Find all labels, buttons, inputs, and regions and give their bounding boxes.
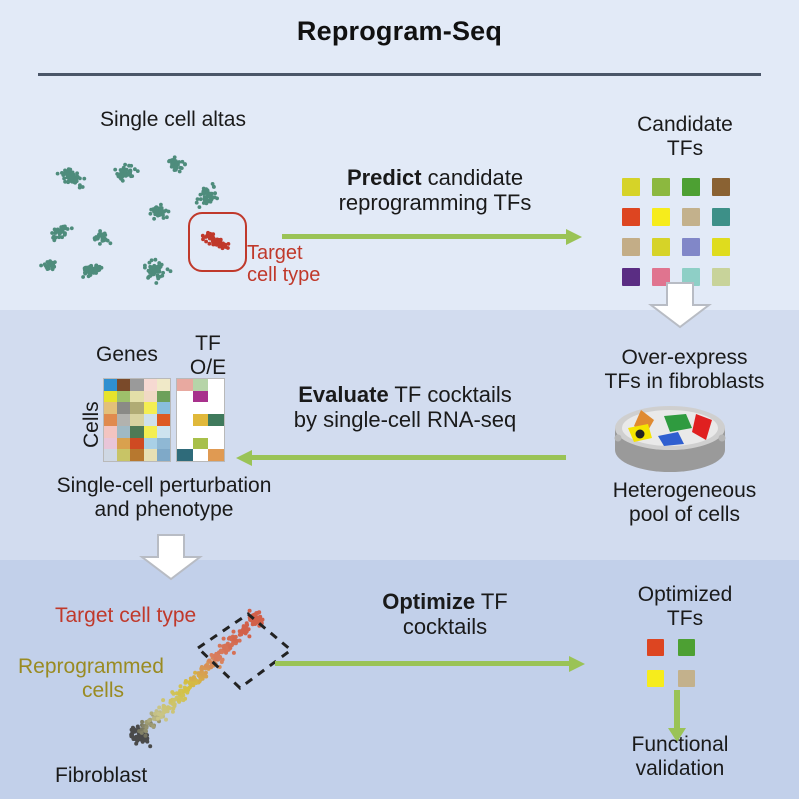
scatter-point bbox=[118, 174, 122, 178]
scatter-point bbox=[145, 726, 149, 730]
scatter-point bbox=[156, 267, 160, 271]
scatter-point bbox=[51, 263, 55, 267]
scatter-point bbox=[177, 691, 181, 695]
scatter-point bbox=[147, 719, 151, 723]
scatter-point bbox=[162, 704, 166, 708]
heatmap-cell bbox=[144, 379, 157, 391]
scatter-point bbox=[155, 211, 159, 215]
heatmap-cell bbox=[193, 449, 209, 461]
arrow-head-right-icon bbox=[569, 656, 585, 672]
tf-oe-label: TF O/E bbox=[178, 332, 238, 379]
scatter-point bbox=[81, 185, 85, 189]
target-cell-type-label: Target cell type bbox=[247, 242, 320, 287]
scatter-point bbox=[101, 236, 105, 240]
tf-swatch bbox=[682, 208, 700, 226]
scatter-point bbox=[166, 267, 170, 271]
scatter-point bbox=[130, 174, 134, 178]
scatter-point bbox=[213, 191, 217, 195]
scatter-point bbox=[202, 201, 206, 205]
heatmap-cell bbox=[117, 449, 130, 461]
scatter-point bbox=[183, 697, 187, 701]
heatmap-cell bbox=[177, 449, 193, 461]
scatter-point bbox=[156, 273, 160, 277]
heatmap-cell bbox=[157, 449, 170, 461]
tf-swatch bbox=[712, 178, 730, 196]
tf-swatch bbox=[622, 178, 640, 196]
atlas-label: Single cell altas bbox=[48, 108, 298, 132]
scatter-point bbox=[211, 195, 215, 199]
heatmap-cell bbox=[117, 426, 130, 438]
scatter-point bbox=[153, 712, 157, 716]
scatter-point bbox=[164, 209, 168, 213]
heatmap-cell bbox=[104, 426, 117, 438]
tf-swatch bbox=[682, 238, 700, 256]
heatmap-cell bbox=[177, 426, 193, 438]
scatter-point bbox=[174, 159, 178, 163]
scatter-point bbox=[157, 706, 161, 710]
scatter-point bbox=[156, 717, 160, 721]
scatter-point bbox=[195, 201, 199, 205]
scatter-point bbox=[147, 269, 151, 273]
scatter-point bbox=[100, 266, 104, 270]
heatmap-cell bbox=[130, 379, 143, 391]
scatter-point bbox=[211, 182, 215, 186]
heatmap-cell bbox=[130, 414, 143, 426]
scatter-point bbox=[130, 731, 134, 735]
heatmap-cell bbox=[104, 402, 117, 414]
scatter-point bbox=[58, 232, 62, 236]
heatmap-cell bbox=[193, 379, 209, 391]
scatter-point bbox=[129, 164, 133, 168]
scatter-point bbox=[152, 273, 156, 277]
heatmap-cell bbox=[104, 449, 117, 461]
scatter-point bbox=[161, 698, 165, 702]
heatmap-cell bbox=[104, 438, 117, 450]
heatmap-cell bbox=[130, 426, 143, 438]
scatter-point bbox=[159, 713, 163, 717]
scatter-point bbox=[150, 711, 154, 715]
heatmap-cell bbox=[130, 402, 143, 414]
evaluate-rest: TF cocktails bbox=[389, 382, 512, 407]
heatmap-cell bbox=[193, 402, 209, 414]
scatter-point bbox=[93, 266, 97, 270]
optimize-arrow-text: Optimize TF cocktails bbox=[300, 590, 590, 639]
heatmap-cell bbox=[104, 379, 117, 391]
scatter-point bbox=[70, 226, 74, 230]
scatter-point bbox=[98, 242, 102, 246]
scatter-point bbox=[56, 172, 60, 176]
scatter-point bbox=[159, 203, 163, 207]
perturbation-caption: Single-cell perturbation and phenotype bbox=[14, 474, 314, 521]
heatmap-cell bbox=[157, 402, 170, 414]
scatter-point bbox=[147, 275, 151, 279]
predict-arrow-text: Predict candidate reprogramming TFs bbox=[280, 166, 590, 215]
arrow-shaft bbox=[275, 661, 570, 666]
arrow-shaft bbox=[282, 234, 567, 239]
heatmap-cell bbox=[157, 426, 170, 438]
scatter-point bbox=[60, 235, 64, 239]
scatter-point bbox=[203, 195, 207, 199]
tf-swatch bbox=[622, 268, 640, 286]
evaluate-bold: Evaluate bbox=[298, 382, 389, 407]
scatter-point bbox=[148, 744, 152, 748]
scatter-point bbox=[177, 160, 181, 164]
scatter-point bbox=[82, 177, 86, 181]
tf-swatch bbox=[622, 238, 640, 256]
heatmap-cell bbox=[177, 391, 193, 403]
tf-swatch bbox=[647, 670, 664, 687]
white-arrow-step2-to-3 bbox=[136, 533, 206, 581]
functional-validation-label: Functional validation bbox=[585, 733, 775, 780]
heatmap-cell bbox=[144, 391, 157, 403]
reprogram-seq-figure: Reprogram-Seq Single cell altas Target c… bbox=[0, 0, 799, 799]
heatmap-cell bbox=[208, 414, 224, 426]
tf-oe-heatmap bbox=[176, 378, 225, 462]
scatter-point bbox=[198, 205, 202, 209]
heatmap-cell bbox=[193, 438, 209, 450]
arrow-shaft bbox=[674, 690, 680, 730]
scatter-point bbox=[166, 705, 170, 709]
heatmap-cell bbox=[193, 414, 209, 426]
heatmap-cell bbox=[208, 402, 224, 414]
scatter-point bbox=[199, 197, 203, 201]
scatter-point bbox=[92, 271, 96, 275]
heatmap-cell bbox=[144, 438, 157, 450]
scatter-point bbox=[183, 163, 187, 167]
scatter-point bbox=[73, 181, 77, 185]
scatter-point bbox=[164, 718, 168, 722]
scatter-point bbox=[143, 264, 147, 268]
scatter-point bbox=[177, 699, 181, 703]
scatter-point bbox=[196, 197, 200, 201]
arrow-head-right-icon bbox=[566, 229, 582, 245]
heatmap-cell bbox=[104, 414, 117, 426]
scatter-point bbox=[89, 268, 93, 272]
scatter-point bbox=[184, 688, 188, 692]
genes-heatmap bbox=[103, 378, 171, 462]
scatter-point bbox=[165, 215, 169, 219]
tf-swatch bbox=[712, 238, 730, 256]
heatmap-cell bbox=[130, 449, 143, 461]
cells-axis-label: Cells bbox=[80, 401, 104, 448]
optimize-rest: TF bbox=[475, 589, 508, 614]
scatter-point bbox=[174, 168, 178, 172]
tf-swatch bbox=[682, 178, 700, 196]
tf-swatch bbox=[652, 178, 670, 196]
scatter-point bbox=[161, 213, 165, 217]
scatter-point bbox=[144, 734, 148, 738]
heatmap-cell bbox=[177, 379, 193, 391]
evaluate-arrow bbox=[236, 449, 566, 465]
scatter-point bbox=[180, 166, 184, 170]
optimized-tfs-title: Optimized TFs bbox=[590, 583, 780, 630]
target-cluster-ring bbox=[188, 212, 247, 272]
candidate-tfs-title: Candidate TFs bbox=[585, 113, 785, 160]
scatter-point bbox=[123, 170, 127, 174]
title-divider bbox=[38, 73, 761, 76]
scatter-point bbox=[44, 264, 48, 268]
heatmap-cell bbox=[144, 402, 157, 414]
scatter-point bbox=[160, 206, 164, 210]
scatter-point bbox=[184, 679, 188, 683]
heatmap-cell bbox=[144, 414, 157, 426]
heatmap-cell bbox=[177, 402, 193, 414]
scatter-point bbox=[121, 179, 125, 183]
heatmap-cell bbox=[144, 426, 157, 438]
overexpress-label: Over-express TFs in fibroblasts bbox=[572, 346, 797, 393]
scatter-point bbox=[160, 274, 164, 278]
scatter-point bbox=[60, 227, 64, 231]
heatmap-cell bbox=[157, 379, 170, 391]
heatmap-cell bbox=[157, 414, 170, 426]
scatter-point bbox=[179, 684, 183, 688]
heatmap-cell bbox=[130, 391, 143, 403]
tf-swatch bbox=[647, 639, 664, 656]
scatter-point bbox=[171, 706, 175, 710]
scatter-point bbox=[204, 187, 208, 191]
scatter-point bbox=[170, 690, 174, 694]
scatter-point bbox=[63, 232, 67, 236]
heatmap-cell bbox=[208, 449, 224, 461]
scatter-point bbox=[155, 205, 159, 209]
scatter-point bbox=[48, 259, 52, 263]
heatmap-cell bbox=[144, 449, 157, 461]
scatter-point bbox=[152, 217, 156, 221]
scatter-point bbox=[98, 229, 102, 233]
scatter-point bbox=[67, 175, 71, 179]
scatter-point bbox=[175, 164, 179, 168]
heatmap-cell bbox=[157, 438, 170, 450]
scatter-point bbox=[50, 231, 54, 235]
tf-swatch bbox=[652, 208, 670, 226]
tf-swatch bbox=[712, 208, 730, 226]
scatter-point bbox=[106, 239, 110, 243]
tf-swatch bbox=[678, 639, 695, 656]
heatmap-cell bbox=[193, 426, 209, 438]
scatter-point bbox=[53, 237, 57, 241]
scatter-point bbox=[83, 266, 87, 270]
scatter-point bbox=[88, 271, 92, 275]
heatmap-cell bbox=[208, 391, 224, 403]
heatmap-cell bbox=[117, 438, 130, 450]
scatter-point bbox=[63, 180, 67, 184]
scatter-point bbox=[154, 258, 158, 262]
petri-dish-icon bbox=[608, 404, 732, 476]
scatter-point bbox=[151, 724, 155, 728]
scatter-point bbox=[152, 265, 156, 269]
heatmap-cell bbox=[117, 379, 130, 391]
heatmap-cell bbox=[104, 391, 117, 403]
heatmap-cell bbox=[117, 391, 130, 403]
heatmap-cell bbox=[130, 438, 143, 450]
arrow-shaft bbox=[251, 455, 566, 460]
heatmap-cell bbox=[193, 391, 209, 403]
page-title: Reprogram-Seq bbox=[0, 16, 799, 47]
highlight-dashed-box bbox=[190, 608, 300, 698]
heatmap-cell bbox=[117, 402, 130, 414]
scatter-point bbox=[75, 171, 79, 175]
heatmap-cell bbox=[177, 438, 193, 450]
optimize-bold: Optimize bbox=[382, 589, 475, 614]
scatter-point bbox=[152, 717, 156, 721]
heatmap-cell bbox=[157, 391, 170, 403]
scatter-point bbox=[154, 281, 158, 285]
arrow-head-left-icon bbox=[236, 450, 252, 466]
scatter-point bbox=[109, 241, 113, 245]
scatter-point bbox=[136, 169, 140, 173]
scatter-point bbox=[71, 174, 75, 178]
heatmap-cell bbox=[208, 426, 224, 438]
evaluate-line2: by single-cell RNA-seq bbox=[240, 408, 570, 433]
tf-swatch bbox=[678, 670, 695, 687]
optimize-line2: cocktails bbox=[300, 615, 590, 640]
scatter-point bbox=[140, 737, 144, 741]
scatter-point bbox=[150, 258, 154, 262]
fibroblast-label: Fibroblast bbox=[55, 764, 147, 788]
scatter-point bbox=[113, 168, 117, 172]
scatter-point bbox=[171, 163, 175, 167]
scatter-point bbox=[64, 172, 68, 176]
predict-line2: reprogramming TFs bbox=[280, 191, 590, 216]
evaluate-arrow-text: Evaluate TF cocktails by single-cell RNA… bbox=[240, 383, 570, 432]
heatmap-cell bbox=[208, 438, 224, 450]
optimize-arrow bbox=[275, 655, 585, 671]
genes-label: Genes bbox=[96, 343, 158, 367]
scatter-point bbox=[167, 160, 171, 164]
scatter-point bbox=[169, 699, 173, 703]
scatter-point bbox=[67, 167, 71, 171]
scatter-point bbox=[201, 190, 205, 194]
heatmap-cell bbox=[208, 379, 224, 391]
scatter-point bbox=[178, 170, 182, 174]
heatmap-cell bbox=[177, 414, 193, 426]
predict-bold: Predict bbox=[347, 165, 422, 190]
predict-rest: candidate bbox=[422, 165, 524, 190]
scatter-point bbox=[157, 261, 161, 265]
tf-swatch bbox=[652, 238, 670, 256]
scatter-point bbox=[135, 736, 139, 740]
scatter-point bbox=[83, 272, 87, 276]
scatter-point bbox=[140, 720, 144, 724]
scatter-point bbox=[39, 264, 43, 268]
scatter-point bbox=[158, 210, 162, 214]
tf-swatch bbox=[622, 208, 640, 226]
white-arrow-step1-to-2 bbox=[645, 281, 715, 329]
predict-arrow bbox=[282, 228, 582, 244]
heterogeneous-pool-label: Heterogeneous pool of cells bbox=[572, 479, 797, 526]
scatter-point bbox=[140, 731, 144, 735]
heatmap-cell bbox=[117, 414, 130, 426]
scatter-point bbox=[81, 275, 85, 279]
scatter-point bbox=[149, 212, 153, 216]
